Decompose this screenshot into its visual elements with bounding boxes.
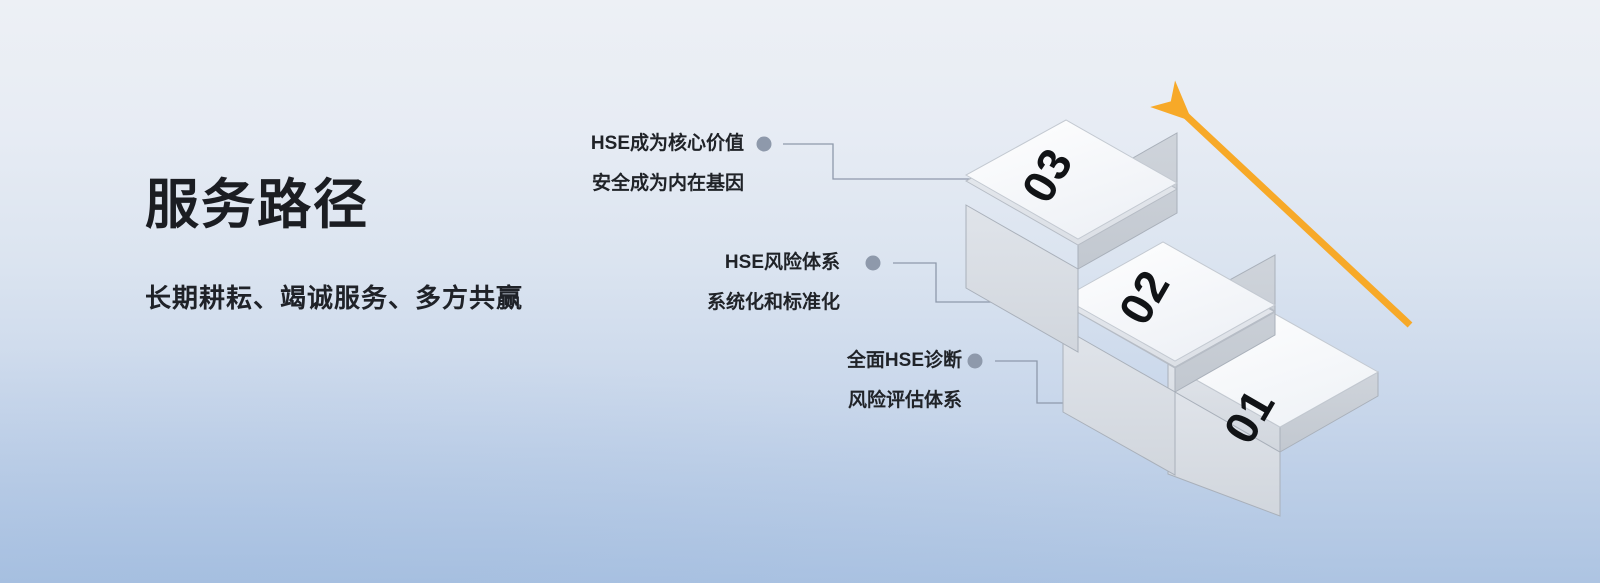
connector-dot-step1 xyxy=(968,354,983,369)
step-label-03-line2: 安全成为内在基因 xyxy=(560,153,744,193)
slide-canvas: 服务路径 长期耕耘、竭诚服务、多方共赢 xyxy=(0,0,1600,583)
connector-dot-step3 xyxy=(757,137,772,152)
page-title: 服务路径 xyxy=(145,176,523,234)
step-label-02-line1: HSE风险体系 xyxy=(684,253,840,272)
connector-line-step3 xyxy=(783,144,990,179)
step-label-01-line2: 风险评估体系 xyxy=(806,370,962,410)
page-subtitle: 长期耕耘、竭诚服务、多方共赢 xyxy=(145,234,523,315)
step-label-03: HSE成为核心价值 安全成为内在基因 xyxy=(560,134,744,193)
connector-dot-step2 xyxy=(866,256,881,271)
heading-block: 服务路径 长期耕耘、竭诚服务、多方共赢 xyxy=(145,176,523,315)
step-label-01-line1: 全面HSE诊断 xyxy=(806,351,962,370)
step-label-01: 全面HSE诊断 风险评估体系 xyxy=(806,351,962,410)
step-label-03-line1: HSE成为核心价值 xyxy=(560,134,744,153)
step-label-02-line2: 系统化和标准化 xyxy=(684,272,840,312)
step-label-02: HSE风险体系 系统化和标准化 xyxy=(684,253,840,312)
